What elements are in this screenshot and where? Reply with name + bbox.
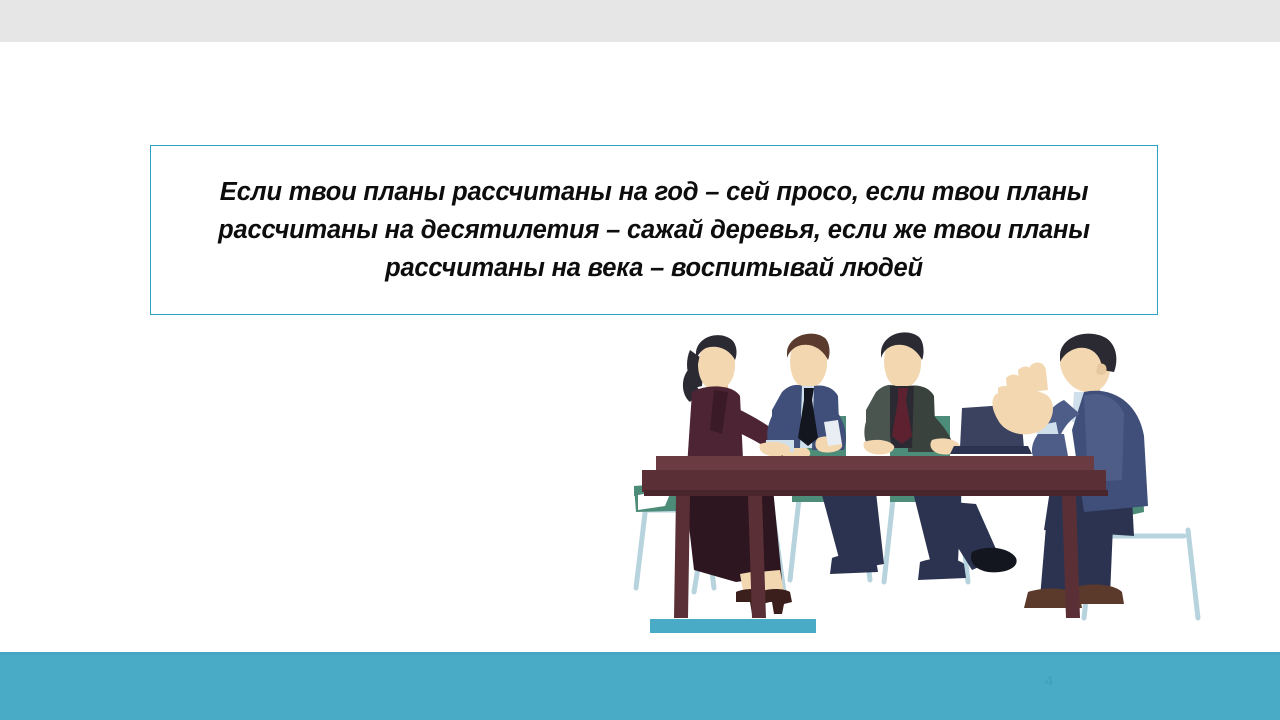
slide-canvas: Если твои планы рассчитаны на год – сей … — [0, 0, 1280, 720]
bottom-banner-band — [0, 652, 1280, 720]
business-meeting-illustration — [632, 330, 1232, 635]
top-banner-band — [0, 0, 1280, 42]
accent-bar — [650, 619, 816, 633]
page-number: 4 — [1036, 673, 1062, 690]
quote-text: Если твои планы рассчитаны на год – сей … — [204, 173, 1104, 287]
quote-textbox: Если твои планы рассчитаны на год – сей … — [150, 145, 1158, 315]
band-edge-line — [0, 652, 1280, 655]
raised-hand — [992, 363, 1053, 435]
